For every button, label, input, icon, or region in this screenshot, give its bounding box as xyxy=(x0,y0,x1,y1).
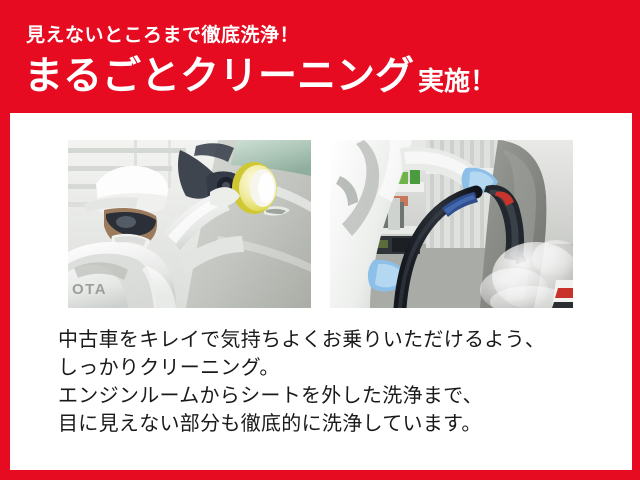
exterior-polishing-photo: OTA xyxy=(68,140,311,308)
cleaning-service-banner: 見えないところまで徹底洗浄！ まるごとクリーニング 実施！ xyxy=(0,0,640,480)
content-card: OTA xyxy=(10,113,632,470)
exterior-polishing-illustration: OTA xyxy=(68,140,311,308)
description-line: エンジンルームからシートを外した洗浄まで、 xyxy=(58,382,618,410)
header-kicker-text: 見えないところまで徹底洗浄！ xyxy=(26,26,299,45)
bottom-accent-strip xyxy=(0,470,640,480)
description-line: しっかりクリーニング。 xyxy=(58,354,618,382)
banner-header: 見えないところまで徹底洗浄！ まるごとクリーニング 実施！ xyxy=(0,0,640,113)
description-block: 中古車をキレイで気持ちよくお乗りいただけるよう、 しっかりクリーニング。 エンジ… xyxy=(58,326,618,438)
svg-text:OTA: OTA xyxy=(72,281,107,298)
photo-row: OTA xyxy=(68,140,573,308)
interior-steam-cleaning-illustration xyxy=(330,140,573,308)
interior-steam-cleaning-photo xyxy=(330,140,573,308)
description-line: 中古車をキレイで気持ちよくお乗りいただけるよう、 xyxy=(58,326,618,354)
description-line: 目に見えない部分も徹底的に洗浄しています。 xyxy=(58,410,618,438)
header-headline: まるごとクリーニング 実施！ xyxy=(24,57,496,96)
headline-suffix-text: 実施！ xyxy=(418,68,496,96)
headline-main-text: まるごとクリーニング xyxy=(24,57,414,96)
